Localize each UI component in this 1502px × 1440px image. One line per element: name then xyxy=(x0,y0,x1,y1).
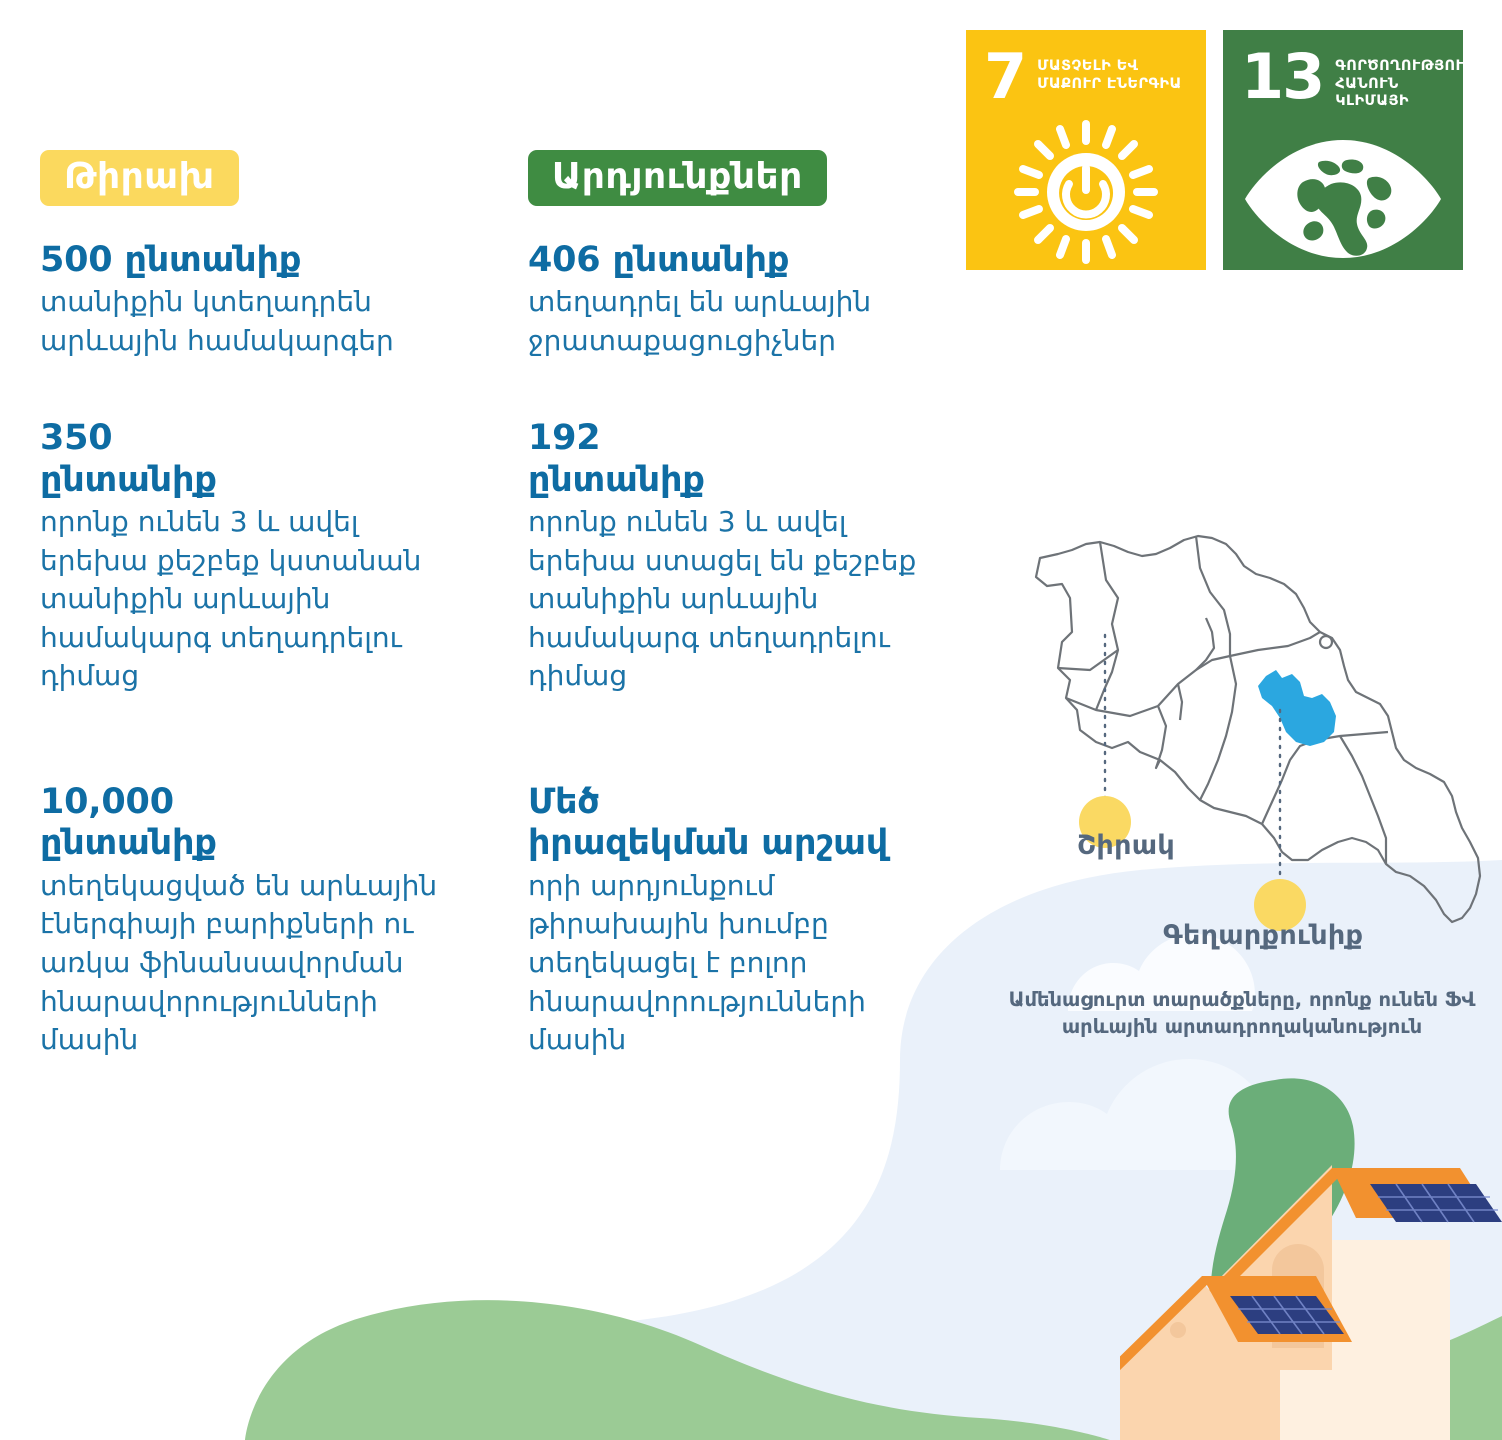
stat-unit: ընտանիք xyxy=(612,240,789,280)
sun-power-icon xyxy=(966,114,1206,264)
stat-headline: Մեծ իրազեկման արշավ xyxy=(528,782,948,865)
column-results: Արդյունքներ 406 ընտանիք տեղադրել են արևա… xyxy=(528,150,948,1060)
stat-value: Մեծ xyxy=(528,782,948,823)
solar-house-illustration xyxy=(1120,1080,1502,1440)
province-border-3 xyxy=(1066,656,1230,716)
stat-headline: 192 ընտանիք xyxy=(528,418,948,501)
sdg-7-title: ՄԱՏՉԵԼԻ ԵՎ ՄԱՔՈՒՐ ԷՆԵՐԳԻԱ xyxy=(1037,52,1182,93)
map-caption: Ամենացուրտ տարածքները, որոնք ունեն ՖՎ ար… xyxy=(992,986,1492,1041)
sdg-7-number: 7 xyxy=(984,52,1025,103)
stat-card: 192 ընտանիք որոնք ունեն 3 և ավել երեխա ս… xyxy=(528,418,948,696)
province-border-7 xyxy=(1230,632,1320,656)
column-target: Թիրախ 500 ընտանիք տանիքին կտեղադրեն արևա… xyxy=(40,150,460,1060)
stat-value: 10,000 xyxy=(40,782,460,823)
results-tag: Արդյունքներ xyxy=(528,150,827,206)
stat-card: 406 ընտանիք տեղադրել են արևային ջրատաքաց… xyxy=(528,240,948,361)
map-label-gegharkunik: Գեղարքունիք xyxy=(1163,920,1363,951)
stat-unit: ընտանիք xyxy=(40,460,460,501)
eye-earth-icon xyxy=(1223,134,1463,264)
country-outline xyxy=(1036,536,1480,922)
stat-card: 350 ընտանիք որոնք ունեն 3 և ավել երեխա ք… xyxy=(40,418,460,696)
province-border-9 xyxy=(1340,736,1386,864)
sdg-7-header: 7 ՄԱՏՉԵԼԻ ԵՎ ՄԱՔՈՒՐ ԷՆԵՐԳԻԱ xyxy=(966,30,1206,103)
sdg-13-header: 13 ԳՈՐԾՈՂՈՒԹՅՈՒՆ ՀԱՆՈՒՆ ԿԼԻՄԱՅԻ xyxy=(1223,30,1463,111)
results-tag-label: Արդյունքներ xyxy=(552,156,803,197)
sdg-badges: 7 ՄԱՏՉԵԼԻ ԵՎ ՄԱՔՈՒՐ ԷՆԵՐԳԻԱ xyxy=(966,30,1463,270)
stat-headline: 406 ընտանիք xyxy=(528,240,948,281)
annex-vent xyxy=(1170,1322,1186,1338)
province-border-2 xyxy=(1058,650,1118,670)
sdg-badge-13: 13 ԳՈՐԾՈՂՈՒԹՅՈՒՆ ՀԱՆՈՒՆ ԿԼԻՄԱՅԻ xyxy=(1223,30,1463,270)
stat-card: 500 ընտանիք տանիքին կտեղադրեն արևային հա… xyxy=(40,240,460,361)
stat-unit: ընտանիք xyxy=(40,823,460,864)
enclave-dot xyxy=(1320,636,1332,648)
province-border-10 xyxy=(1196,618,1214,670)
stat-value: 192 xyxy=(528,418,948,459)
sdg-badge-7: 7 ՄԱՏՉԵԼԻ ԵՎ ՄԱՔՈՒՐ ԷՆԵՐԳԻԱ xyxy=(966,30,1206,270)
lake-sevan xyxy=(1258,670,1336,746)
sdg-13-number: 13 xyxy=(1241,52,1323,103)
green-hill-left xyxy=(245,1300,1110,1440)
stat-value: 500 xyxy=(40,240,112,280)
stat-unit: ընտանիք xyxy=(528,460,948,501)
stat-unit: ընտանիք xyxy=(124,240,301,280)
armenia-map: Շիրակ Գեղարքունիք Ամենացուրտ տարածքները,… xyxy=(1000,520,1500,1050)
stat-description: որոնք ունեն 3 և ավել երեխա քեշբեք կստանա… xyxy=(40,503,460,696)
stat-description: որոնք ունեն 3 և ավել երեխա ստացել են քեշ… xyxy=(528,503,948,696)
stat-value: 406 xyxy=(528,240,600,280)
stat-headline: 500 ընտանիք xyxy=(40,240,460,281)
target-tag: Թիրախ xyxy=(40,150,239,206)
stat-description: տանիքին կտեղադրեն արևային համակարգեր xyxy=(40,283,460,360)
crosshair-target-icon xyxy=(276,147,340,211)
stat-card: Մեծ իրազեկման արշավ որի արդյունքում թիրա… xyxy=(528,782,948,1060)
stat-headline: 350 ընտանիք xyxy=(40,418,460,501)
infographic-canvas: 7 ՄԱՏՉԵԼԻ ԵՎ ՄԱՔՈՒՐ ԷՆԵՐԳԻԱ xyxy=(0,0,1502,1440)
annex-side xyxy=(1280,1370,1388,1440)
sdg-13-title: ԳՈՐԾՈՂՈՒԹՅՈՒՆ ՀԱՆՈՒՆ ԿԼԻՄԱՅԻ xyxy=(1335,52,1463,111)
stat-card: 10,000 ընտանիք տեղեկացված են արևային էնե… xyxy=(40,782,460,1060)
stat-description: տեղադրել են արևային ջրատաքացուցիչներ xyxy=(528,283,948,360)
target-tag-label: Թիրախ xyxy=(64,156,215,197)
stat-unit: իրազեկման արշավ xyxy=(528,823,948,864)
province-border-5 xyxy=(1200,656,1236,800)
province-border-1 xyxy=(1096,542,1118,710)
stat-description: տեղեկացված են արևային էներգիայի բարիքներ… xyxy=(40,867,460,1060)
map-label-shirak: Շիրակ xyxy=(1077,830,1175,861)
province-border-11 xyxy=(1178,684,1182,720)
stat-headline: 10,000 ընտանիք xyxy=(40,782,460,865)
stat-description: որի արդյունքում թիրախային խումբը տեղեկաց… xyxy=(528,867,948,1060)
stat-value: 350 xyxy=(40,418,460,459)
